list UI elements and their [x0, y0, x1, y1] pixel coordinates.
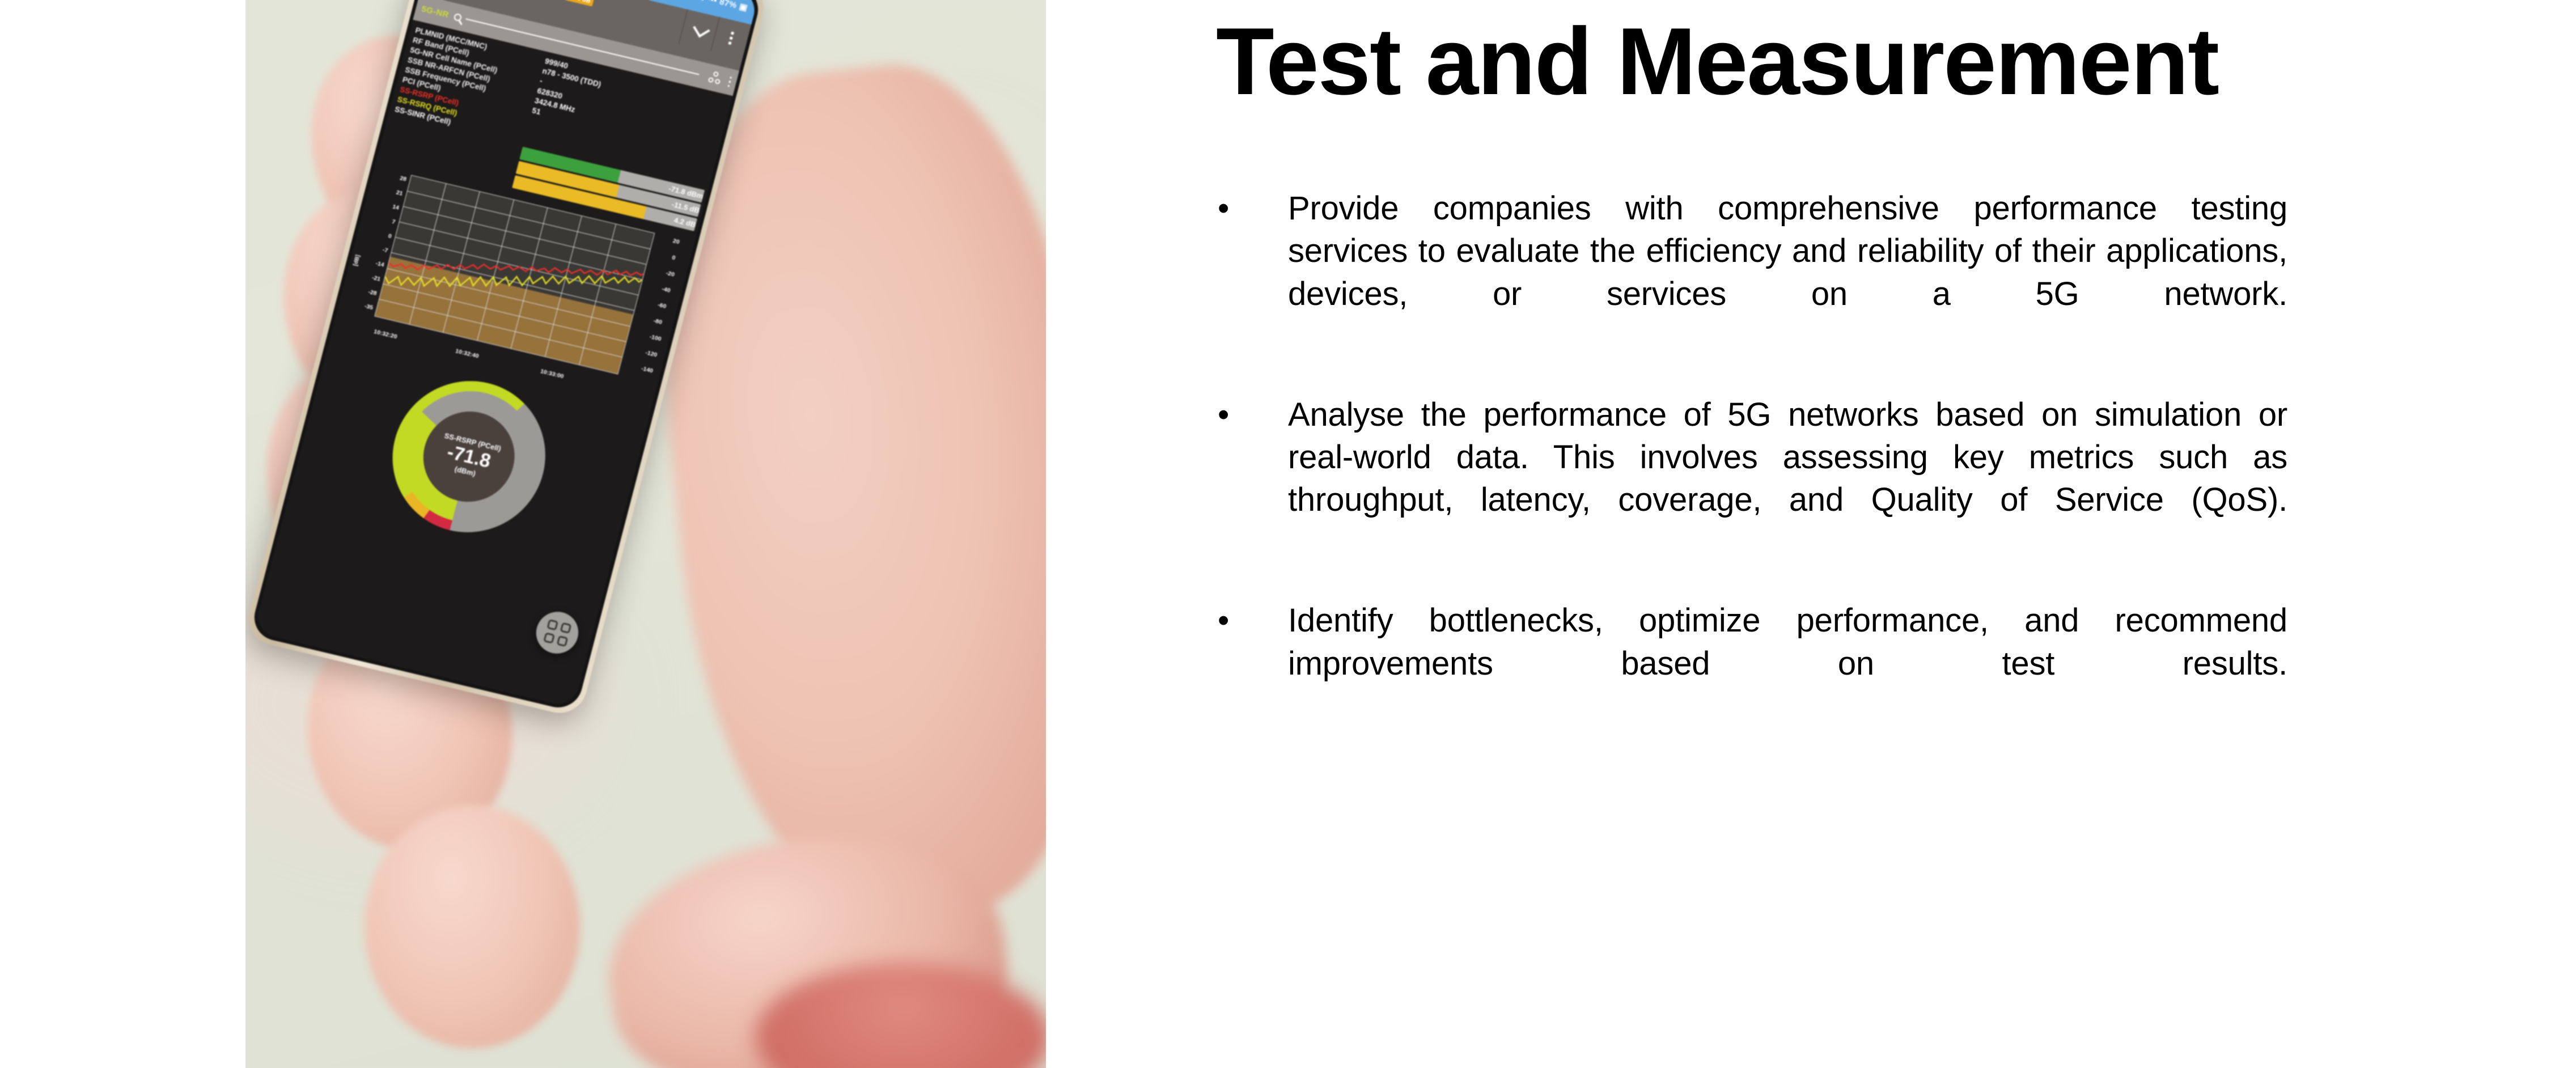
rsrq-bar-value: -11.5 dB [671, 200, 700, 214]
chart-y2tick: 20 [672, 238, 680, 245]
grid-apps-icon[interactable] [532, 608, 583, 658]
chart-ytick: 14 [377, 200, 400, 211]
chart-y2tick: -100 [649, 333, 662, 342]
list-item: • Identify bottlenecks, optimize perform… [1213, 599, 2287, 727]
bullet-marker-icon: • [1213, 187, 1288, 358]
chart-xtick: 10:32:20 [373, 328, 398, 340]
list-item: • Analyse the performance of 5G networks… [1213, 393, 2287, 565]
chart-ytick: -28 [355, 285, 378, 296]
three-dots-icon[interactable] [727, 77, 732, 87]
bullet-marker-icon: • [1213, 599, 1288, 727]
chart-ytick: 0 [370, 228, 392, 239]
bullet-text: Analyse the performance of 5G networks b… [1288, 393, 2287, 565]
signal-bars-icon: ▪▪▪ [706, 0, 718, 5]
chart-ytick: 28 [384, 171, 407, 183]
slide-root: 10:33 Q ▰ △ ☐ ▪▪▪ 87% ▣ [0, 0, 2576, 1068]
toolbar-actions [707, 71, 732, 88]
chart-ytick: 21 [381, 185, 404, 197]
product-photo: 10:33 Q ▰ △ ☐ ▪▪▪ 87% ▣ [245, 0, 1046, 1068]
sinr-bar-value: 4.2 dB [673, 215, 697, 229]
page-title: Test and Measurement [1216, 11, 2218, 111]
parameter-value: 51 [531, 105, 542, 117]
chart-y2tick: -120 [645, 349, 658, 358]
chart-ytick: -21 [359, 271, 382, 282]
chevron-down-icon [693, 20, 710, 37]
chart-ytick: 7 [374, 214, 396, 225]
battery-percent-label: 87% [718, 0, 738, 10]
series-ss-rsrq-line [384, 222, 642, 340]
status-bar-right-icons: ☐ ▪▪▪ 87% ▣ [696, 0, 749, 13]
bullet-marker-icon: • [1213, 393, 1288, 565]
chart-y2tick: -80 [653, 317, 663, 325]
finger [365, 805, 580, 1049]
content-panel: Test and Measurement • Provide companies… [1213, 0, 2296, 1068]
chart-y2tick: -140 [641, 365, 654, 374]
tab-5g-nr[interactable]: 5G-NR [421, 4, 450, 20]
list-item: • Provide companies with comprehensive p… [1213, 187, 2287, 358]
bullet-text: Identify bottlenecks, optimize performan… [1288, 599, 2287, 727]
chart-y2tick: -60 [657, 301, 667, 310]
three-dots-icon [728, 31, 735, 44]
chart-y2tick: -40 [661, 285, 671, 294]
chart-y2tick: 0 [671, 254, 676, 261]
chart-ytick: -14 [362, 257, 385, 268]
series-ss-rsrp-line [388, 216, 644, 323]
chart-xtick: 10:33:00 [540, 368, 565, 380]
search-icon [454, 12, 463, 22]
chart-y2tick: -20 [666, 269, 676, 278]
bullet-text: Provide companies with comprehensive per… [1288, 187, 2287, 358]
chart-y2-axis-label: [dBm] [671, 320, 681, 337]
chart-ytick: -35 [351, 299, 374, 311]
cast-icon: ☐ [696, 0, 706, 3]
share-icon[interactable] [707, 71, 722, 86]
battery-icon: ▣ [738, 1, 749, 13]
bullet-list: • Provide companies with comprehensive p… [1213, 187, 2287, 762]
chart-y-axis-label: [dB] [353, 255, 362, 267]
chart-xtick: 10:32:40 [455, 347, 480, 359]
chart-ytick: -7 [366, 243, 389, 254]
